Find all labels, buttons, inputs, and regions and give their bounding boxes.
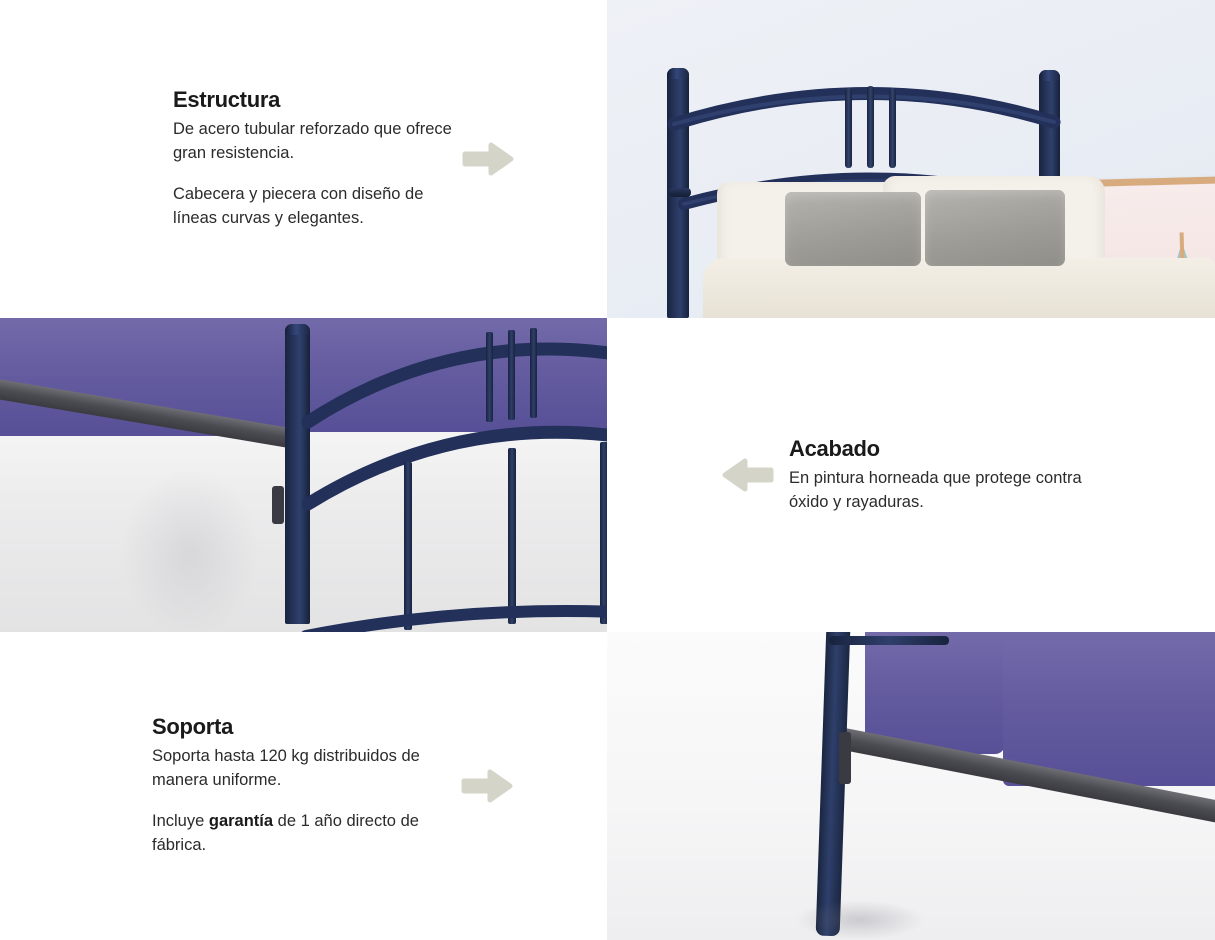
footboard-arc-lower <box>300 394 607 524</box>
product-infographic: Estructura De acero tubular reforzado qu… <box>0 0 1215 940</box>
arrow-right-icon <box>461 139 517 179</box>
rail-hook-bracket <box>839 732 851 784</box>
soporta-emphasis: garantía <box>209 812 273 830</box>
feature-paragraph-soporta-2: Incluye garantía de 1 año directo de fáb… <box>152 810 452 858</box>
leg-top-tube <box>829 636 949 645</box>
headboard-rail-left <box>669 188 691 197</box>
feature-panel-soporta: Soporta Soporta hasta 120 kg distribuido… <box>0 632 607 940</box>
feature-paragraph-acabado-1: En pintura horneada que protege contra ó… <box>789 467 1089 515</box>
headboard-spindle-2 <box>867 86 874 168</box>
footboard-bottom-rail <box>300 578 607 632</box>
rail-bracket <box>272 486 284 524</box>
footboard-spindle-3 <box>530 328 537 418</box>
feature-heading-estructura: Estructura <box>173 87 455 113</box>
feature-heading-acabado: Acabado <box>789 436 1089 462</box>
soporta-text-before: Incluye <box>152 812 209 830</box>
cushion-left-front <box>785 192 921 266</box>
feature-paragraph-estructura-1: De acero tubular reforzado que ofrece gr… <box>173 118 455 166</box>
footboard-spindle-1 <box>486 332 493 422</box>
feature-panel-acabado: Acabado En pintura horneada que protege … <box>607 318 1215 632</box>
feature-paragraph-soporta-1: Soporta hasta 120 kg distribuidos de man… <box>152 745 452 793</box>
feature-panel-estructura: Estructura De acero tubular reforzado qu… <box>0 0 607 318</box>
feature-heading-soporta: Soporta <box>152 714 452 740</box>
floor-reflection <box>120 468 260 632</box>
headboard-spindle-3 <box>889 88 896 168</box>
arrow-right-icon <box>460 766 516 806</box>
feature-paragraph-estructura-2: Cabecera y piecera con diseño de líneas … <box>173 183 455 231</box>
mattress-block-right <box>1003 632 1215 786</box>
photo-headboard-bedroom <box>607 0 1215 318</box>
photo-bed-leg-detail <box>607 632 1215 940</box>
cushion-right-front <box>925 190 1065 266</box>
leg-floor-shadow <box>795 900 925 940</box>
footboard-spindle-2 <box>508 330 515 420</box>
headboard-spindle-1 <box>845 88 852 168</box>
photo-footboard-detail <box>0 318 607 632</box>
arrow-left-icon <box>719 455 775 495</box>
bed-sheet <box>703 258 1215 318</box>
